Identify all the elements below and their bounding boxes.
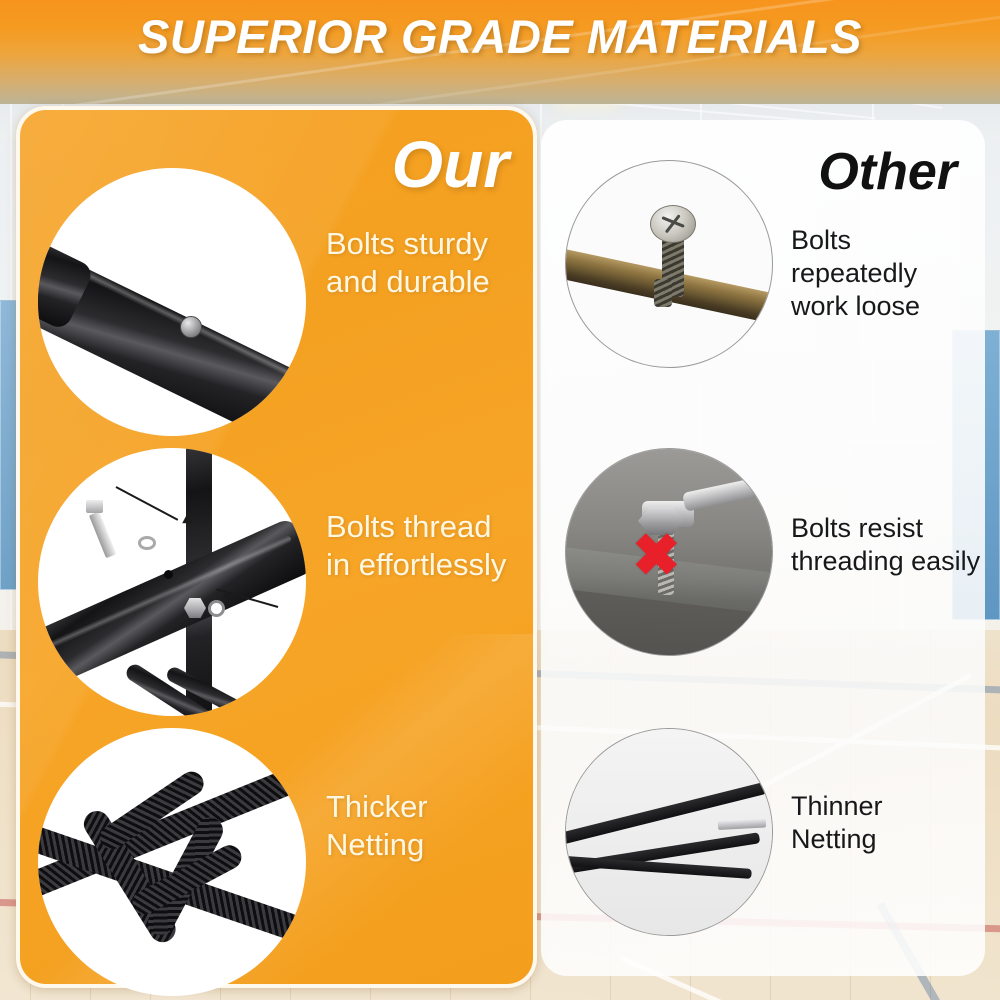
black-frame-joint-with-bolt-and-nut-photo [38,448,306,716]
our-caption-bolts-sturdy: Bolts sturdy and durable [326,225,526,301]
header-banner: SUPERIOR GRADE MATERIALS [0,0,1000,104]
other-caption-thinner-netting: Thinner Netting [791,790,971,856]
our-caption-thicker-netting: Thicker Netting [326,788,516,864]
black-tube-with-bolt-photo [38,168,306,436]
thick-braided-rope-knot-photo [38,728,306,996]
thin-frayed-rope-photo [565,728,773,936]
our-caption-bolts-thread: Bolts thread in effortlessly [326,508,536,584]
our-heading: Our [392,126,509,202]
other-caption-bolts-resist: Bolts resist threading easily [791,512,991,578]
red-x-marker: ✖ [632,527,681,585]
other-heading: Other [818,142,957,202]
panel-other: Other Bolts repeatedly work loose [541,120,985,976]
other-caption-bolts-loose: Bolts repeatedly work loose [791,224,981,323]
wrench-on-bolt-with-red-x-photo: ✖ [565,448,773,656]
page-title: SUPERIOR GRADE MATERIALS [0,9,1000,64]
rusty-rod-with-loose-screw-photo [565,160,773,368]
panel-our: Our Bolts sturdy and durable [16,106,537,988]
